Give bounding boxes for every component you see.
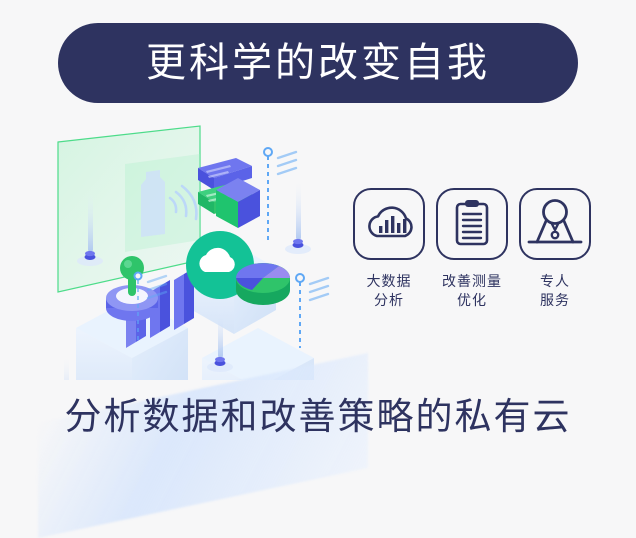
feature-item-service[interactable]: 专人 服务 <box>518 188 592 328</box>
feature-list: 大数据 分析 改善测量 <box>352 188 592 328</box>
glow-rod <box>88 192 93 252</box>
feature-label-line2: 优化 <box>442 291 502 310</box>
feature-card-big-data[interactable] <box>353 188 425 260</box>
feature-item-measurement[interactable]: 改善测量 优化 <box>435 188 509 328</box>
feature-label-line1: 改善测量 <box>442 272 502 291</box>
page-headline: 分析数据和改善策略的私有云 <box>0 386 636 440</box>
header-banner: 更科学的改变自我 <box>58 23 578 103</box>
feature-label-line1: 大数据 <box>367 272 412 291</box>
feature-label-line2: 分析 <box>367 291 412 310</box>
dashed-connector-top <box>264 148 296 242</box>
cloud-bar-chart-icon <box>355 190 423 258</box>
feature-card-service[interactable] <box>519 188 591 260</box>
feature-label-line1: 专人 <box>540 272 570 291</box>
illustration <box>20 120 360 380</box>
floor-glow <box>38 353 368 538</box>
glow-rod-front <box>53 358 79 380</box>
support-person-icon <box>521 190 589 258</box>
dashed-connector-bottom <box>296 274 328 348</box>
feature-label-line2: 服务 <box>540 291 570 310</box>
clipboard-icon <box>438 190 506 258</box>
feature-label-measurement: 改善测量 优化 <box>442 272 502 310</box>
poster-canvas: 更科学的改变自我 大数据 分析 <box>0 0 636 450</box>
pie-chart-3d <box>236 263 290 305</box>
banner-title: 更科学的改变自我 <box>146 43 490 83</box>
feature-card-measurement[interactable] <box>436 188 508 260</box>
feature-label-service: 专人 服务 <box>540 272 570 310</box>
feature-label-big-data: 大数据 分析 <box>367 272 412 310</box>
glow-rod-right <box>285 182 311 254</box>
feature-item-big-data[interactable]: 大数据 分析 <box>352 188 426 328</box>
